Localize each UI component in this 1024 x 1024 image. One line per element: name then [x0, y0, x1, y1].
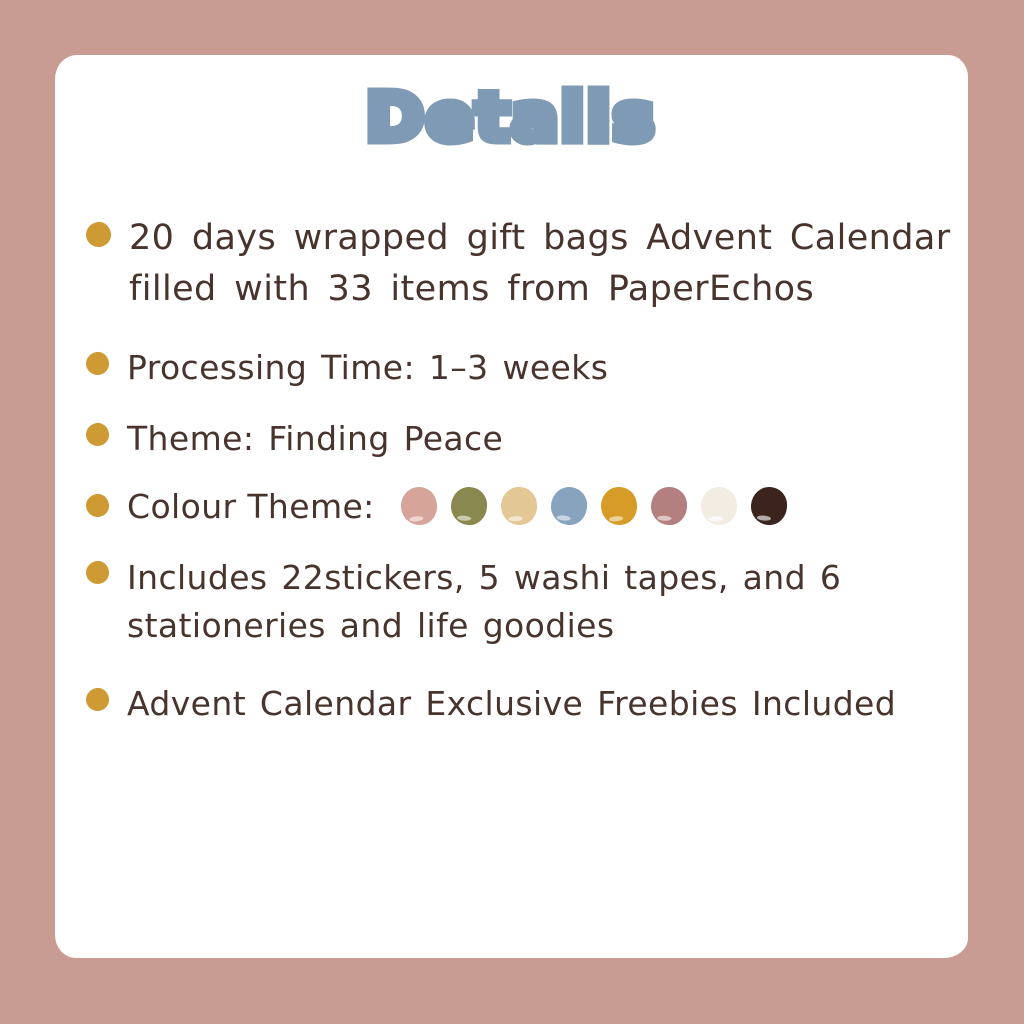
list-item: Processing Time: 1–3 weeks [55, 345, 968, 391]
page-title-container: Details [55, 85, 968, 151]
bullet-dot-icon [85, 422, 111, 448]
bullet-dot-icon [85, 351, 111, 377]
list-item-label: Processing Time: 1–3 weeks [127, 345, 958, 391]
colour-swatch-mauve-rose [650, 486, 688, 526]
details-list: 20 days wrapped gift bags Advent Calenda… [55, 213, 968, 727]
bullet-dot-icon [85, 492, 111, 518]
colour-swatch-dark-brown [749, 486, 788, 527]
colour-swatch-goldenrod [599, 486, 638, 527]
list-item-label: Includes 22stickers, 5 washi tapes, and … [127, 554, 958, 650]
list-item: Includes 22stickers, 5 washi tapes, and … [55, 554, 968, 650]
list-item: Theme: Finding Peace [55, 416, 968, 462]
bullet-dot-icon [84, 220, 112, 248]
bullet-dot-icon [85, 560, 111, 586]
page-title: Details [366, 85, 657, 151]
colour-swatch-wheat-tan [500, 486, 538, 526]
list-item: Advent Calendar Exclusive Freebies Inclu… [55, 681, 968, 727]
poster-canvas: Details 20 days wrapped gift bags Advent… [0, 0, 1024, 1024]
colour-swatch-cream [699, 486, 738, 526]
colour-theme-label: Colour Theme: [127, 487, 375, 527]
list-item-colour-theme: Colour Theme: [55, 487, 968, 527]
bullet-dot-icon [85, 686, 111, 712]
details-card: Details 20 days wrapped gift bags Advent… [55, 55, 968, 958]
colour-swatch-dusty-pink [399, 486, 439, 528]
list-item-label: 20 days wrapped gift bags Advent Calenda… [129, 213, 958, 315]
colour-swatch-row [401, 487, 787, 525]
colour-swatch-olive-green [449, 486, 488, 526]
list-item-label: Theme: Finding Peace [127, 416, 958, 462]
colour-swatch-dusty-blue [549, 486, 589, 528]
list-item-label: Advent Calendar Exclusive Freebies Inclu… [127, 681, 958, 727]
list-item: 20 days wrapped gift bags Advent Calenda… [55, 213, 968, 315]
colour-theme-line: Colour Theme: [127, 487, 787, 527]
